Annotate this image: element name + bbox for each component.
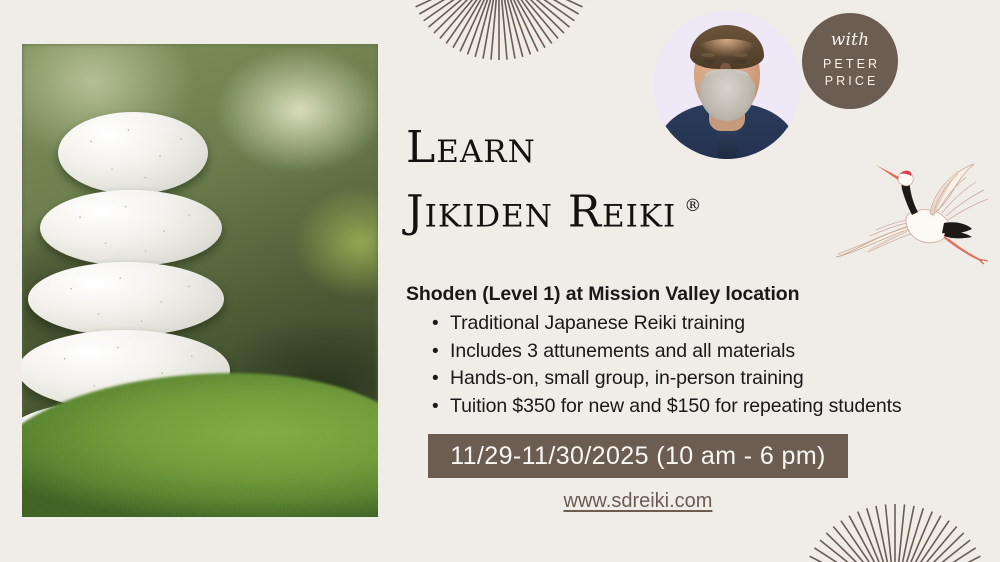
stone-top [58, 112, 208, 194]
portrait-brow-right [733, 53, 748, 57]
sunburst-top-icon [409, 0, 589, 60]
portrait-brow-left [701, 53, 716, 57]
list-item: Tuition $350 for new and $150 for repeat… [450, 393, 902, 421]
headline-line-2: Jikiden Reiki® [406, 177, 701, 242]
badge-with-label: with [831, 32, 870, 49]
poster-canvas: with PETER PRICE [0, 0, 1000, 562]
badge-first-name: PETER [820, 56, 880, 73]
stone-second [40, 190, 222, 266]
portrait-eye-right [735, 59, 747, 64]
badge-last-name: PRICE [822, 73, 879, 90]
stone-third [28, 262, 224, 336]
portrait-eye-left [703, 59, 715, 64]
list-item: Hands-on, small group, in-person trainin… [450, 365, 902, 393]
website-link[interactable]: www.sdreiki.com [428, 490, 848, 513]
crane-icon [826, 163, 992, 267]
presenter-badge: with PETER PRICE [802, 13, 898, 109]
course-features-list: Traditional Japanese Reiki training Incl… [424, 310, 902, 420]
list-item: Traditional Japanese Reiki training [450, 310, 902, 338]
list-item: Includes 3 attunements and all materials [450, 338, 902, 366]
headline-line-2-text: Jikiden Reiki [406, 187, 676, 238]
stone-photo [22, 44, 378, 517]
registered-mark: ® [684, 196, 701, 216]
date-banner: 11/29-11/30/2025 (10 am - 6 pm) [428, 434, 848, 478]
course-subhead: Shoden (Level 1) at Mission Valley locat… [406, 283, 799, 306]
page-title: Learn Jikiden Reiki® [406, 119, 701, 242]
headline-line-1: Learn [406, 119, 701, 177]
